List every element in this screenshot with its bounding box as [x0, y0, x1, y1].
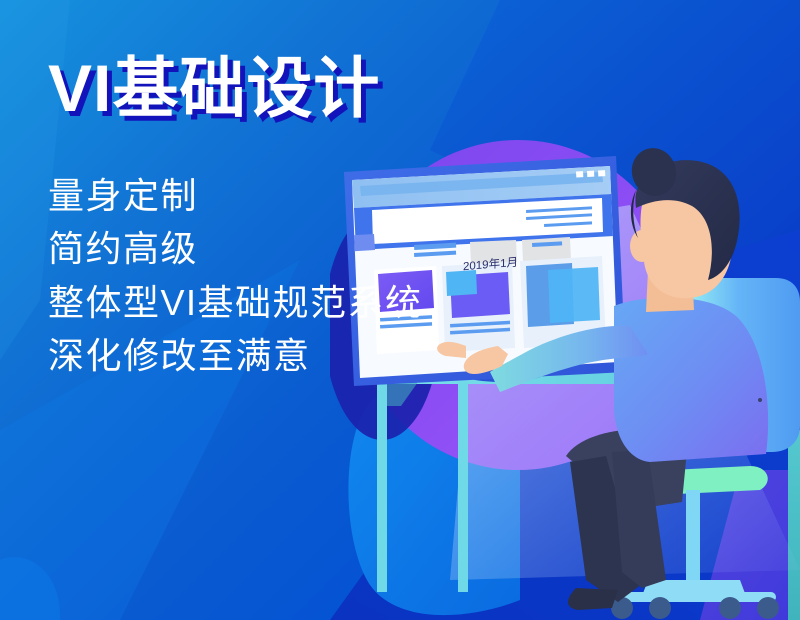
chair-post [686, 490, 700, 582]
feature-list: 量身定制 简约高级 整体型VI基础规范系统 深化修改至满意 [48, 176, 423, 376]
window-dot-1 [576, 171, 583, 177]
toolbar-chip-1 [470, 240, 517, 264]
chair-base-arms [612, 592, 776, 602]
desk-leg-left [377, 382, 387, 592]
desk-leg-right [458, 382, 468, 592]
window-dot-2 [587, 171, 594, 177]
page-title: VI基础设计 [48, 55, 423, 121]
detail-dot [758, 398, 762, 402]
window-dot-3 [598, 170, 605, 176]
card-3-image-accent [548, 267, 600, 323]
feature-item-4: 深化修改至满意 [48, 336, 423, 376]
toolbar-chip-2 [522, 237, 571, 262]
feature-item-2: 简约高级 [48, 229, 423, 269]
feature-item-1: 量身定制 [48, 176, 423, 216]
card-2-image-accent [446, 270, 477, 296]
text-block: VI基础设计 量身定制 简约高级 整体型VI基础规范系统 深化修改至满意 [48, 55, 423, 376]
feature-item-3: 整体型VI基础规范系统 [48, 283, 423, 323]
vi-design-banner: VI基础设计 量身定制 简约高级 整体型VI基础规范系统 深化修改至满意 [0, 0, 800, 620]
wheel [719, 597, 741, 619]
wheel [649, 597, 671, 619]
shoe [568, 588, 618, 610]
wheel [757, 597, 779, 619]
